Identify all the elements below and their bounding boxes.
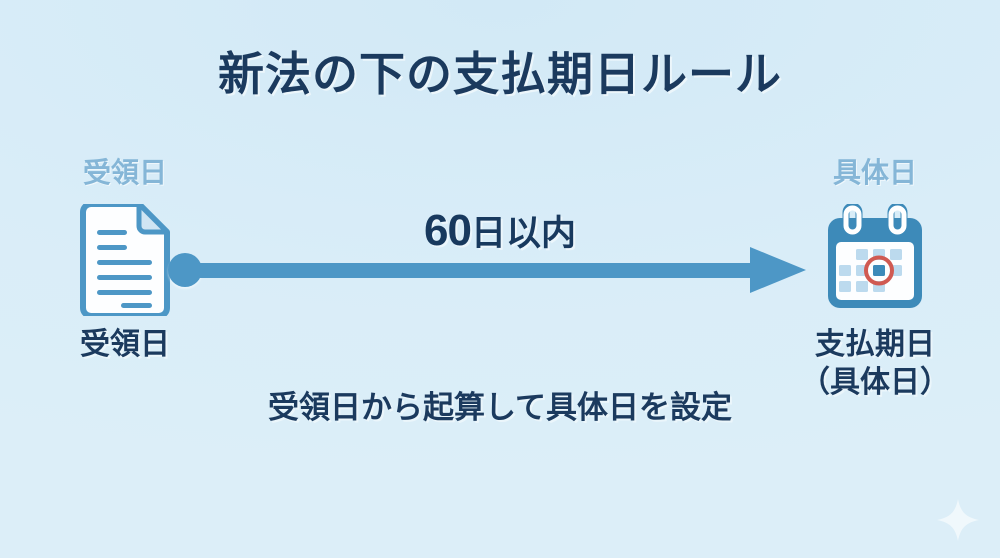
- page-title: 新法の下の支払期日ルール: [0, 38, 1000, 104]
- start-bottom-label: 受領日: [10, 326, 240, 364]
- duration-unit: 日以内: [471, 214, 576, 253]
- slide-canvas: 新法の下の支払期日ルール 受領日 受領日 60日以内 具体日: [0, 0, 1000, 558]
- start-top-label: 受領日: [10, 158, 240, 192]
- duration-label: 60日以内: [320, 205, 680, 256]
- duration-number: 60: [424, 206, 471, 255]
- footnote-text: 受領日から起算して具体日を設定: [140, 382, 860, 427]
- arrow-shaft: [194, 263, 756, 278]
- end-icon-slot: [760, 200, 990, 320]
- document-icon: [77, 204, 173, 316]
- end-bottom-label-line1: 支払期日: [760, 326, 990, 364]
- sparkle-icon: [935, 497, 981, 543]
- calendar-icon: [820, 204, 930, 316]
- flow-node-end: 具体日: [760, 158, 990, 401]
- end-top-label: 具体日: [760, 158, 990, 192]
